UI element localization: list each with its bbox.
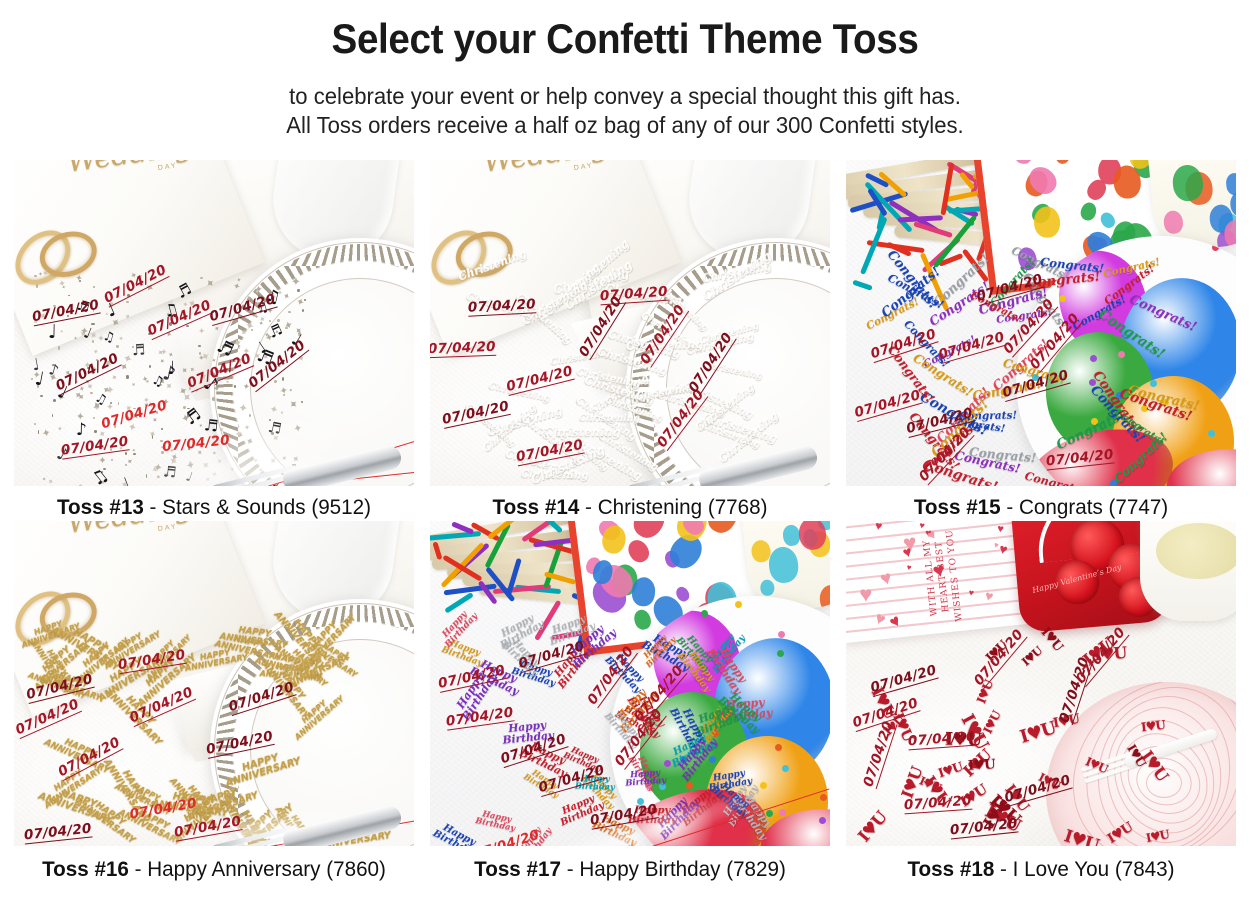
plate-dot [778, 631, 785, 638]
plate-dot [1090, 355, 1097, 362]
plate-dot [760, 782, 767, 789]
plate-dot [1212, 244, 1219, 251]
caption-dash: - [150, 495, 157, 519]
toss-name: Stars & Sounds [162, 495, 305, 519]
gallery-item-toss-16[interactable]: HAPPY Wedding DAY HAPPY ANNIVERSARYHAPPY… [14, 521, 414, 883]
subtitle-line-2: All Toss orders receive a half oz bag of… [38, 111, 1213, 140]
cup-balloon [759, 579, 774, 597]
plate-dot [1118, 351, 1125, 358]
napkin-balloon [1033, 206, 1061, 239]
card-bottom-text: DAY [158, 162, 179, 172]
toss-gallery-grid: HAPPY Wedding DAY ✦✦✦✦✦✦✦✦✦✦✦✦✦✦✦✦✦✦✦✦✦✦… [14, 160, 1236, 883]
plate-dot [1150, 380, 1157, 387]
toss-number: Toss #14 [492, 495, 579, 519]
cup-balloon [1163, 209, 1185, 234]
plate-dot [680, 756, 687, 763]
plate-dot [1032, 374, 1039, 381]
card-heart-icon: ♥ [859, 581, 872, 607]
page-title: Select your Confetti Theme Toss [50, 14, 1200, 64]
card-script-text: Wedding [53, 521, 206, 540]
ribbon-streamer [444, 592, 474, 614]
napkin-balloon [1053, 160, 1073, 166]
toss-17-photo[interactable]: Happy BirthdayHappy BirthdayHappy Birthd… [430, 521, 830, 846]
toss-16-photo[interactable]: HAPPY Wedding DAY HAPPY ANNIVERSARYHAPPY… [14, 521, 414, 846]
plate-dot [779, 809, 786, 816]
toss-15-caption: Toss #15 - Congrats (7747) [854, 486, 1228, 521]
napkin-balloon [1079, 201, 1099, 223]
plate-dot [645, 782, 652, 789]
toss-sku: (7843) [1115, 857, 1175, 881]
plate-dot [637, 798, 644, 805]
toss-sku: (7747) [1109, 495, 1169, 519]
card-bottom-text: DAY [574, 162, 595, 172]
napkin-balloon [632, 608, 653, 632]
plate-dot [1016, 278, 1023, 285]
plate-dot [1208, 430, 1215, 437]
toss-sku: (9512) [311, 495, 371, 519]
toss-name: I Love You [1013, 857, 1109, 881]
card-bottom-text: DAY [158, 523, 179, 533]
gallery-item-toss-13[interactable]: HAPPY Wedding DAY ✦✦✦✦✦✦✦✦✦✦✦✦✦✦✦✦✦✦✦✦✦✦… [14, 160, 414, 521]
toss-17-caption: Toss #17 - Happy Birthday (7829) [438, 846, 822, 883]
napkin-balloon [703, 521, 743, 537]
toss-number: Toss #17 [474, 857, 561, 881]
caption-dash: - [135, 857, 142, 881]
caption-dash: - [567, 857, 574, 881]
toss-sku: (7829) [726, 857, 786, 881]
wedding-rings-icon [430, 202, 536, 312]
caption-dash: - [1000, 857, 1007, 881]
subtitle-line-1: to celebrate your event or help convey a… [38, 82, 1213, 111]
plate-dot [782, 765, 789, 772]
napkin-balloon [624, 536, 653, 566]
gallery-item-toss-15[interactable]: Congrats!Congrats!Congrats!Congrats!Cong… [846, 160, 1236, 521]
toss-name: Happy Anniversary [147, 857, 320, 881]
cup-balloon [1235, 160, 1236, 171]
gallery-item-toss-17[interactable]: Happy BirthdayHappy BirthdayHappy Birthd… [430, 521, 830, 883]
ribbon-streamer [852, 279, 873, 290]
toss-name: Happy Birthday [579, 857, 720, 881]
teacup [1140, 521, 1236, 621]
toss-16-caption: Toss #16 - Happy Anniversary (7860) [22, 846, 406, 883]
plate-dot [735, 601, 742, 608]
toss-14-photo[interactable]: HAPPY Wedding DAY ChristeningChristening… [430, 160, 830, 486]
toss-number: Toss #15 [914, 495, 1001, 519]
plate-dot [669, 612, 676, 619]
toss-14-caption: Toss #14 - Christening (7768) [438, 486, 822, 521]
wedding-rings-icon [14, 202, 120, 312]
toss-sku: (7860) [326, 857, 386, 881]
card-script-text: Wedding [53, 160, 206, 179]
gallery-item-toss-14[interactable]: HAPPY Wedding DAY ChristeningChristening… [430, 160, 830, 521]
napkin-balloon [1016, 245, 1039, 271]
page-root: Select your Confetti Theme Toss to celeb… [0, 0, 1250, 917]
card-script-text: Wedding [469, 160, 622, 179]
plate-dot [1059, 295, 1066, 302]
toss-number: Toss #18 [907, 857, 994, 881]
toss-name: Christening [598, 495, 702, 519]
toss-number: Toss #13 [57, 495, 144, 519]
wedding-rings-icon [14, 563, 120, 673]
toss-sku: (7768) [708, 495, 768, 519]
toss-number: Toss #16 [42, 857, 129, 881]
page-header: Select your Confetti Theme Toss to celeb… [0, 0, 1250, 140]
gallery-item-toss-18[interactable]: ♥♥♥♥♥♥♥♥♥♥♥♥♥♥♥♥♥♥WITH ALL MY HEART BEST… [846, 521, 1236, 883]
card-heart-icon: ♥ [997, 523, 1005, 536]
caption-dash: - [1006, 495, 1013, 519]
toss-13-caption: Toss #13 - Stars & Sounds (9512) [22, 486, 406, 521]
toss-18-caption: Toss #18 - I Love You (7843) [854, 846, 1228, 883]
plate-dot [1141, 405, 1148, 412]
card-heart-icon: ♥ [886, 611, 905, 633]
cup-balloon [767, 546, 800, 584]
plate-dot [701, 610, 708, 617]
plate-dot [1091, 418, 1098, 425]
napkin-balloon [1013, 160, 1033, 164]
napkin-balloon [631, 577, 657, 607]
plate-dot [1162, 399, 1169, 406]
card-heart-icon: ♥ [874, 521, 883, 533]
toss-name: Congrats [1019, 495, 1103, 519]
toss-13-photo[interactable]: HAPPY Wedding DAY ✦✦✦✦✦✦✦✦✦✦✦✦✦✦✦✦✦✦✦✦✦✦… [14, 160, 414, 486]
toss-15-photo[interactable]: Congrats!Congrats!Congrats!Congrats!Cong… [846, 160, 1236, 486]
caption-dash: - [585, 495, 592, 519]
plate-dot [659, 783, 666, 790]
toss-18-photo[interactable]: ♥♥♥♥♥♥♥♥♥♥♥♥♥♥♥♥♥♥WITH ALL MY HEART BEST… [846, 521, 1236, 846]
